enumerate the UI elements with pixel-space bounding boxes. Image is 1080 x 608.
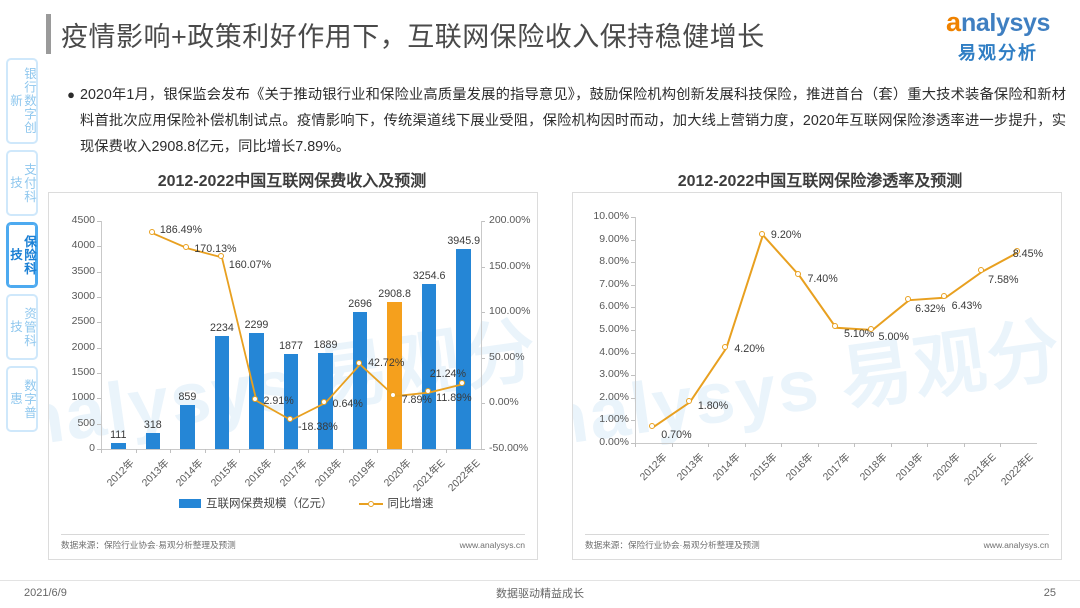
line-value-label: 11.89% [436,392,471,404]
line-value-label: 7.58% [988,274,1018,286]
slide: 疫情影响+政策利好作用下，互联网保险收入保持稳健增长 a nalysys 易观分… [0,0,1080,608]
y-axis-tick-label: 5.00% [577,323,629,335]
line-value-label: 2.91% [263,395,293,407]
left-chart-panel: analysys 易观分析 05001000150020002500300035… [48,192,538,560]
right-chart-source-row: 数据来源：保险行业协会·易观分析整理及预测 www.analysys.cn [585,534,1049,551]
x-axis-tickmark [891,443,892,447]
right-plot-area: 0.00%1.00%2.00%3.00%4.00%5.00%6.00%7.00%… [573,193,1061,559]
x-axis-tickmark [412,449,413,453]
y-axis-tick-label: 9.00% [577,233,629,245]
bar-value-label: 111 [86,429,150,441]
legend-line-label: 同比增速 [388,498,434,510]
x-axis-tickmark [377,449,378,453]
bar-value-label: 1889 [294,339,358,351]
sidebar-item-bank-digital-innovation[interactable]: 银行数字创新 [6,58,38,144]
line-value-label: 6.32% [915,303,945,315]
y2-axis-line [481,221,482,449]
line-value-label: 9.20% [771,229,801,241]
sidebar-item-payment-tech[interactable]: 支付科技 [6,150,38,216]
line-value-label: 186.49% [160,224,202,236]
line-data-point [218,253,224,259]
y2-axis-tick-label: 200.00% [489,214,530,226]
bar-value-label: 3254.6 [397,270,461,282]
line-value-label: 7.89% [402,394,432,406]
y-axis-tick-label: 1.00% [577,413,629,425]
bar [387,302,402,449]
line-data-point [686,398,692,404]
y-axis-tick-label: 4.00% [577,346,629,358]
y-axis-tick-label: 3.00% [577,368,629,380]
logo-a-swoosh-icon: a [946,9,961,36]
bar [422,284,437,449]
line-data-point [722,344,728,350]
x-axis-line [101,449,481,450]
line-value-label: 160.07% [229,259,271,271]
line-value-label: -18.38% [298,421,338,433]
sidebar-nav: 银行数字创新 支付科技 保险科技 资管科技 数字普惠 [6,58,40,438]
x-axis-tickmark [205,449,206,453]
y-axis-tick-label: 500 [55,417,95,429]
line-data-point [795,271,801,277]
footer-slogan: 数据驱动精益成长 [0,585,1080,601]
y-axis-tick-label: 4000 [55,239,95,251]
y-axis-tick-label: 6.00% [577,300,629,312]
y-axis-tick-label: 1500 [55,366,95,378]
legend-bar-label: 互联网保费规模（亿元） [206,498,333,510]
footer-page-number: 25 [1044,587,1056,599]
logo-word: nalysys [961,11,1050,36]
x-axis-tickmark [170,449,171,453]
y-axis-tick-label: 7.00% [577,278,629,290]
line-value-label: 42.72% [368,357,404,369]
right-chart-title: 2012-2022中国互联网保险渗透率及预测 [570,167,1070,191]
line-data-point [321,399,327,405]
y-axis-tick-label: 8.00% [577,255,629,267]
line-data-point [759,231,765,237]
line-value-label: 0.64% [333,398,363,410]
x-axis-tickmark [1000,443,1001,447]
left-chart-site: www.analysys.cn [460,540,525,550]
sidebar-item-digital-inclusive-finance[interactable]: 数字普惠 [6,366,38,432]
line-data-point [356,360,362,366]
right-chart-panel: analysys 易观分析 0.00%1.00%2.00%3.00%4.00%5… [572,192,1062,560]
sidebar-item-insurance-tech[interactable]: 保险科技 [6,222,38,288]
y-axis-line [101,221,102,449]
logo-chinese: 易观分析 [934,39,1062,65]
line-data-point [905,296,911,302]
left-chart-title: 2012-2022中国互联网保费收入及预测 [42,167,542,191]
y2-axis-tick-label: -50.00% [489,442,528,454]
bullet-dot-icon: ● [62,82,80,160]
body-paragraph: 2020年1月，银保监会发布《关于推动银行业和保险业高质量发展的指导意见》，鼓励… [80,82,1066,160]
y-axis-tick-label: 3000 [55,290,95,302]
line-value-label: 6.43% [952,300,982,312]
body-bullet: ● 2020年1月，银保监会发布《关于推动银行业和保险业高质量发展的指导意见》，… [62,82,1066,160]
bar [456,249,471,449]
x-axis-tickmark [101,449,102,453]
line-value-label: 21.24% [430,368,466,380]
line-value-label: 5.00% [879,331,909,343]
x-axis-tickmark [964,443,965,447]
x-axis-tickmark [818,443,819,447]
y2-axis-tickmark [481,449,485,450]
slide-footer: 2021/6/9 数据驱动精益成长 25 [0,580,1080,604]
x-axis-line [635,443,1037,444]
title-text: 疫情影响+政策利好作用下，互联网保险收入保持稳健增长 [61,15,765,54]
line-data-point [649,423,655,429]
x-axis-tickmark [635,443,636,447]
bar [146,433,161,449]
y-axis-line [635,217,636,443]
legend-line-swatch-icon [359,501,383,507]
line-data-point [183,244,189,250]
line-data-point [287,416,293,422]
bar-value-label: 2299 [224,319,288,331]
y-axis-tick-label: 2.00% [577,391,629,403]
bar-value-label: 2696 [328,298,392,310]
x-axis-tickmark [446,449,447,453]
y2-axis-tick-label: 0.00% [489,396,519,408]
x-axis-tickmark [672,443,673,447]
line-data-point [149,229,155,235]
bar-value-label: 318 [121,419,185,431]
bar [215,336,230,449]
left-chart-source: 数据来源：保险行业协会·易观分析整理及预测 [61,539,236,551]
x-axis-tickmark [239,449,240,453]
bar [180,405,195,449]
y2-axis-tick-label: 50.00% [489,351,525,363]
y-axis-tick-label: 2500 [55,315,95,327]
y-axis-tick-label: 0.00% [577,436,629,448]
y-axis-tick-label: 3500 [55,265,95,277]
logo-wordmark: a nalysys [934,8,1062,38]
bar-value-label: 859 [155,391,219,403]
left-chart-legend: 互联网保费规模（亿元） 同比增速 [179,495,434,511]
sidebar-item-asset-management-tech[interactable]: 资管科技 [6,294,38,360]
penetration-rate-line [573,193,1063,561]
left-chart-source-row: 数据来源：保险行业协会·易观分析整理及预测 www.analysys.cn [61,534,525,551]
y-axis-tick-label: 2000 [55,341,95,353]
y-axis-tick-label: 4500 [55,214,95,226]
line-value-label: 7.40% [807,273,837,285]
line-data-point [941,293,947,299]
x-axis-tickmark [745,443,746,447]
y-axis-tick-label: 0 [55,442,95,454]
right-chart-source: 数据来源：保险行业协会·易观分析整理及预测 [585,539,760,551]
x-axis-tickmark [343,449,344,453]
y-axis-tick-label: 1000 [55,391,95,403]
line-data-point [868,326,874,332]
x-axis-tickmark [708,443,709,447]
analysys-logo: a nalysys 易观分析 [934,8,1062,65]
legend-item-line: 同比增速 [359,495,434,511]
line-value-label: 4.20% [734,343,764,355]
page-title: 疫情影响+政策利好作用下，互联网保险收入保持稳健增长 [46,14,765,54]
bar [353,312,368,449]
x-axis-tickmark [274,449,275,453]
line-value-label: 170.13% [194,243,236,255]
x-axis-tickmark [136,449,137,453]
x-axis-tickmark [854,443,855,447]
x-axis-tickmark [927,443,928,447]
line-data-point [832,323,838,329]
line-value-label: 1.80% [698,400,728,412]
bar [111,443,126,449]
line-data-point [978,267,984,273]
y2-axis-tick-label: 100.00% [489,305,530,317]
right-chart-site: www.analysys.cn [984,540,1049,550]
legend-bar-swatch-icon [179,499,201,508]
bar-value-label: 2908.8 [363,288,427,300]
bar-value-label: 3945.9 [432,235,496,247]
legend-item-bar: 互联网保费规模（亿元） [179,495,333,511]
title-accent-bar [46,14,51,54]
line-value-label: 8.45% [1013,248,1043,260]
y-axis-tick-label: 10.00% [577,210,629,222]
line-value-label: 0.70% [661,429,691,441]
x-axis-tickmark [308,449,309,453]
x-axis-tickmark [781,443,782,447]
y2-axis-tick-label: 150.00% [489,260,530,272]
